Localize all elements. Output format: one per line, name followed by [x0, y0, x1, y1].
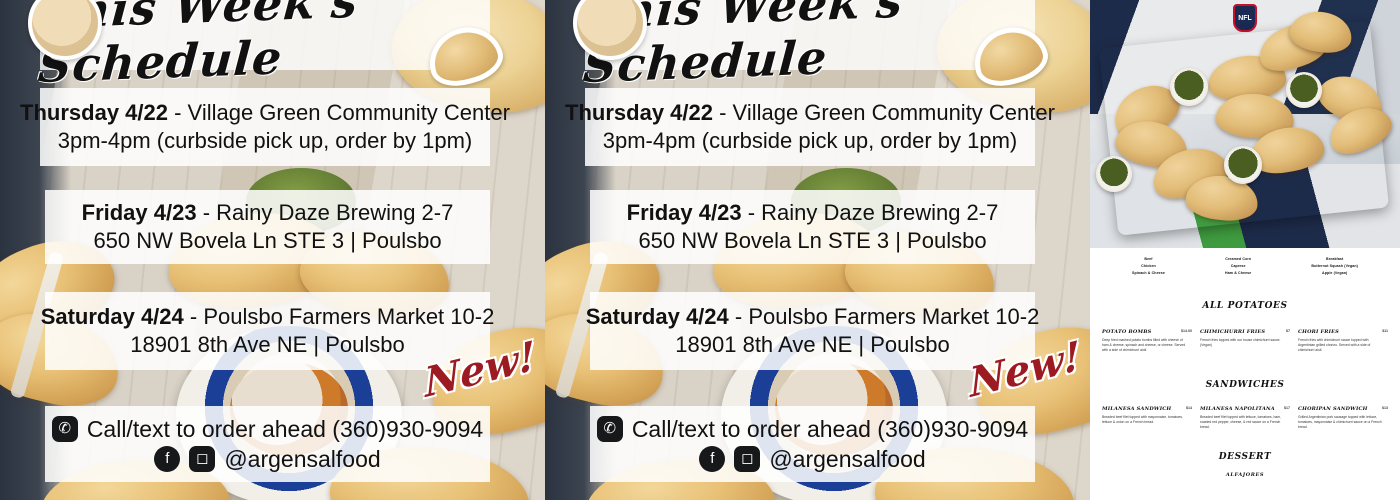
entry-venue: - Poulsbo Farmers Market 10-2	[184, 304, 495, 329]
schedule-entry-thursday: Thursday 4/22 - Village Green Community …	[585, 88, 1035, 166]
chimichurri-cup	[1286, 72, 1322, 108]
schedule-title-band: This Week's Schedule	[40, 0, 490, 70]
entry-day: Saturday 4/24	[41, 304, 184, 329]
social-handle: @argensalfood	[224, 444, 380, 474]
schedule-panel-middle: This Week's Schedule Thursday 4/22 - Vil…	[545, 0, 1090, 500]
section-heading-dessert: DESSERT	[1102, 452, 1388, 462]
entry-line-2: 3pm-4pm (curbside pick up, order by 1pm)	[603, 127, 1018, 155]
schedule-entry-friday: Friday 4/23 - Rainy Daze Brewing 2-7 650…	[45, 190, 490, 264]
schedule-title-band: This Week's Schedule	[585, 0, 1035, 70]
item-description: Breaded beef filet topped with mayonnais…	[1102, 415, 1192, 425]
entry-line-2: 18901 8th Ave NE | Poulsbo	[130, 331, 404, 359]
menu-item: CHORIPAN SANDWICH $13 Grilled Argentinia…	[1298, 406, 1388, 431]
menu-item: MILANESA NAPOLITANA $17 Breaded beef fil…	[1200, 406, 1290, 431]
entry-day: Thursday 4/22	[20, 100, 168, 125]
entry-day: Saturday 4/24	[586, 304, 729, 329]
flavor-item: Beef	[1132, 256, 1165, 263]
dessert-item-name: ALFAJORES	[1102, 472, 1388, 478]
empanada-flavor-row: Beef Chicken Spinach & Cheese Creamed Co…	[1102, 256, 1388, 277]
phone-row: ✆ Call/text to order ahead (360)930-9094	[52, 414, 483, 444]
entry-venue: - Village Green Community Center	[713, 100, 1055, 125]
flavor-column: Creamed Corn Caprese Ham & Cheese	[1225, 256, 1251, 277]
menu-items-potatoes: POTATO BOMBS $14.00 Deep fried mashed po…	[1102, 329, 1388, 354]
contact-band: ✆ Call/text to order ahead (360)930-9094…	[45, 406, 490, 482]
flavor-item: Chicken	[1132, 263, 1165, 270]
item-price: $17	[1284, 406, 1290, 410]
entry-day: Thursday 4/22	[565, 100, 713, 125]
nfl-logo-icon: NFL	[1233, 4, 1257, 32]
social-handle: @argensalfood	[769, 444, 925, 474]
item-name: CHORIPAN SANDWICH	[1298, 406, 1388, 413]
chimichurri-cup	[1224, 146, 1262, 184]
flavor-item: Butternut Squash (Vegan)	[1311, 263, 1358, 270]
entry-line-2: 18901 8th Ave NE | Poulsbo	[675, 331, 949, 359]
phone-icon: ✆	[52, 416, 78, 442]
chimichurri-cup	[1096, 156, 1132, 192]
flavor-column: Beef Chicken Spinach & Cheese	[1132, 256, 1165, 277]
entry-venue: - Poulsbo Farmers Market 10-2	[729, 304, 1040, 329]
contact-band: ✆ Call/text to order ahead (360)930-9094…	[590, 406, 1035, 482]
section-heading-potatoes: ALL POTATOES	[1102, 301, 1388, 311]
item-price: $7	[1286, 329, 1290, 333]
schedule-entry-friday: Friday 4/23 - Rainy Daze Brewing 2-7 650…	[590, 190, 1035, 264]
schedule-panel-left: This Week's Schedule Thursday 4/22 - Vil…	[0, 0, 545, 500]
entry-line-1: Saturday 4/24 - Poulsbo Farmers Market 1…	[586, 303, 1040, 331]
menu-item: CHORI FRIES $11 French fries with chimic…	[1298, 329, 1388, 354]
item-price: $14.00	[1181, 329, 1192, 333]
instagram-icon[interactable]: ◻	[734, 446, 760, 472]
entry-venue: - Rainy Daze Brewing 2-7	[742, 200, 999, 225]
phone-text: Call/text to order ahead (360)930-9094	[632, 414, 1028, 444]
entry-line-2: 3pm-4pm (curbside pick up, order by 1pm)	[58, 127, 473, 155]
entry-day: Friday 4/23	[82, 200, 197, 225]
item-name: CHIMICHURRI FRIES	[1200, 329, 1290, 336]
entry-line-1: Friday 4/23 - Rainy Daze Brewing 2-7	[627, 199, 999, 227]
phone-text: Call/text to order ahead (360)930-9094	[87, 414, 483, 444]
instagram-icon[interactable]: ◻	[189, 446, 215, 472]
entry-line-2: 650 NW Bovela Ln STE 3 | Poulsbo	[93, 227, 441, 255]
flavor-column: Breakfast Butternut Squash (Vegan) Apple…	[1311, 256, 1358, 277]
flavor-item: Creamed Corn	[1225, 256, 1251, 263]
entry-line-1: Thursday 4/22 - Village Green Community …	[20, 99, 510, 127]
item-name: POTATO BOMBS	[1102, 329, 1192, 336]
flavor-item: Spinach & Cheese	[1132, 270, 1165, 277]
item-name: MILANESA NAPOLITANA	[1200, 406, 1290, 413]
item-description: Breaded beef filet topped with lettuce, …	[1200, 415, 1290, 431]
item-price: $14	[1186, 406, 1192, 410]
chimichurri-cup	[1170, 68, 1208, 106]
menu-item: CHIMICHURRI FRIES $7 French fries topped…	[1200, 329, 1290, 354]
flavor-item: Apple (Vegan)	[1311, 270, 1358, 277]
flavor-item: Caprese	[1225, 263, 1251, 270]
facebook-icon[interactable]: f	[154, 446, 180, 472]
social-row: f ◻ @argensalfood	[699, 444, 925, 474]
facebook-icon[interactable]: f	[699, 446, 725, 472]
item-name: CHORI FRIES	[1298, 329, 1388, 336]
entry-day: Friday 4/23	[627, 200, 742, 225]
entry-line-1: Thursday 4/22 - Village Green Community …	[565, 99, 1055, 127]
flavor-item: Ham & Cheese	[1225, 270, 1251, 277]
section-heading-sandwiches: SANDWICHES	[1102, 380, 1388, 390]
phone-row: ✆ Call/text to order ahead (360)930-9094	[597, 414, 1028, 444]
right-column: NFL Beef Chicken Spinach & Chee	[1090, 0, 1400, 500]
empanada-platter-photo: NFL	[1090, 0, 1400, 248]
entry-line-2: 650 NW Bovela Ln STE 3 | Poulsbo	[638, 227, 986, 255]
item-name: MILANESA SANDWICH	[1102, 406, 1192, 413]
entry-venue: - Rainy Daze Brewing 2-7	[197, 200, 454, 225]
menu-sheet: Beef Chicken Spinach & Cheese Creamed Co…	[1090, 248, 1400, 500]
item-price: $13	[1382, 406, 1388, 410]
social-row: f ◻ @argensalfood	[154, 444, 380, 474]
menu-item: POTATO BOMBS $14.00 Deep fried mashed po…	[1102, 329, 1192, 354]
item-description: French fries with chimichurri sauce topp…	[1298, 338, 1388, 354]
entry-venue: - Village Green Community Center	[168, 100, 510, 125]
entry-line-1: Friday 4/23 - Rainy Daze Brewing 2-7	[82, 199, 454, 227]
item-description: Grilled Argentinian pork sausage topped …	[1298, 415, 1388, 431]
item-price: $11	[1382, 329, 1388, 333]
schedule-entry-thursday: Thursday 4/22 - Village Green Community …	[40, 88, 490, 166]
menu-items-sandwiches: MILANESA SANDWICH $14 Breaded beef filet…	[1102, 406, 1388, 431]
phone-icon: ✆	[597, 416, 623, 442]
page-title: This Week's Schedule	[581, 0, 1038, 93]
screenshot-root: This Week's Schedule Thursday 4/22 - Vil…	[0, 0, 1400, 500]
item-description: Deep fried mashed potato bombs filled wi…	[1102, 338, 1192, 354]
page-title: This Week's Schedule	[36, 0, 493, 93]
flavor-item: Breakfast	[1311, 256, 1358, 263]
menu-item: MILANESA SANDWICH $14 Breaded beef filet…	[1102, 406, 1192, 431]
item-description: French fries topped with our house chimi…	[1200, 338, 1290, 348]
entry-line-1: Saturday 4/24 - Poulsbo Farmers Market 1…	[41, 303, 495, 331]
